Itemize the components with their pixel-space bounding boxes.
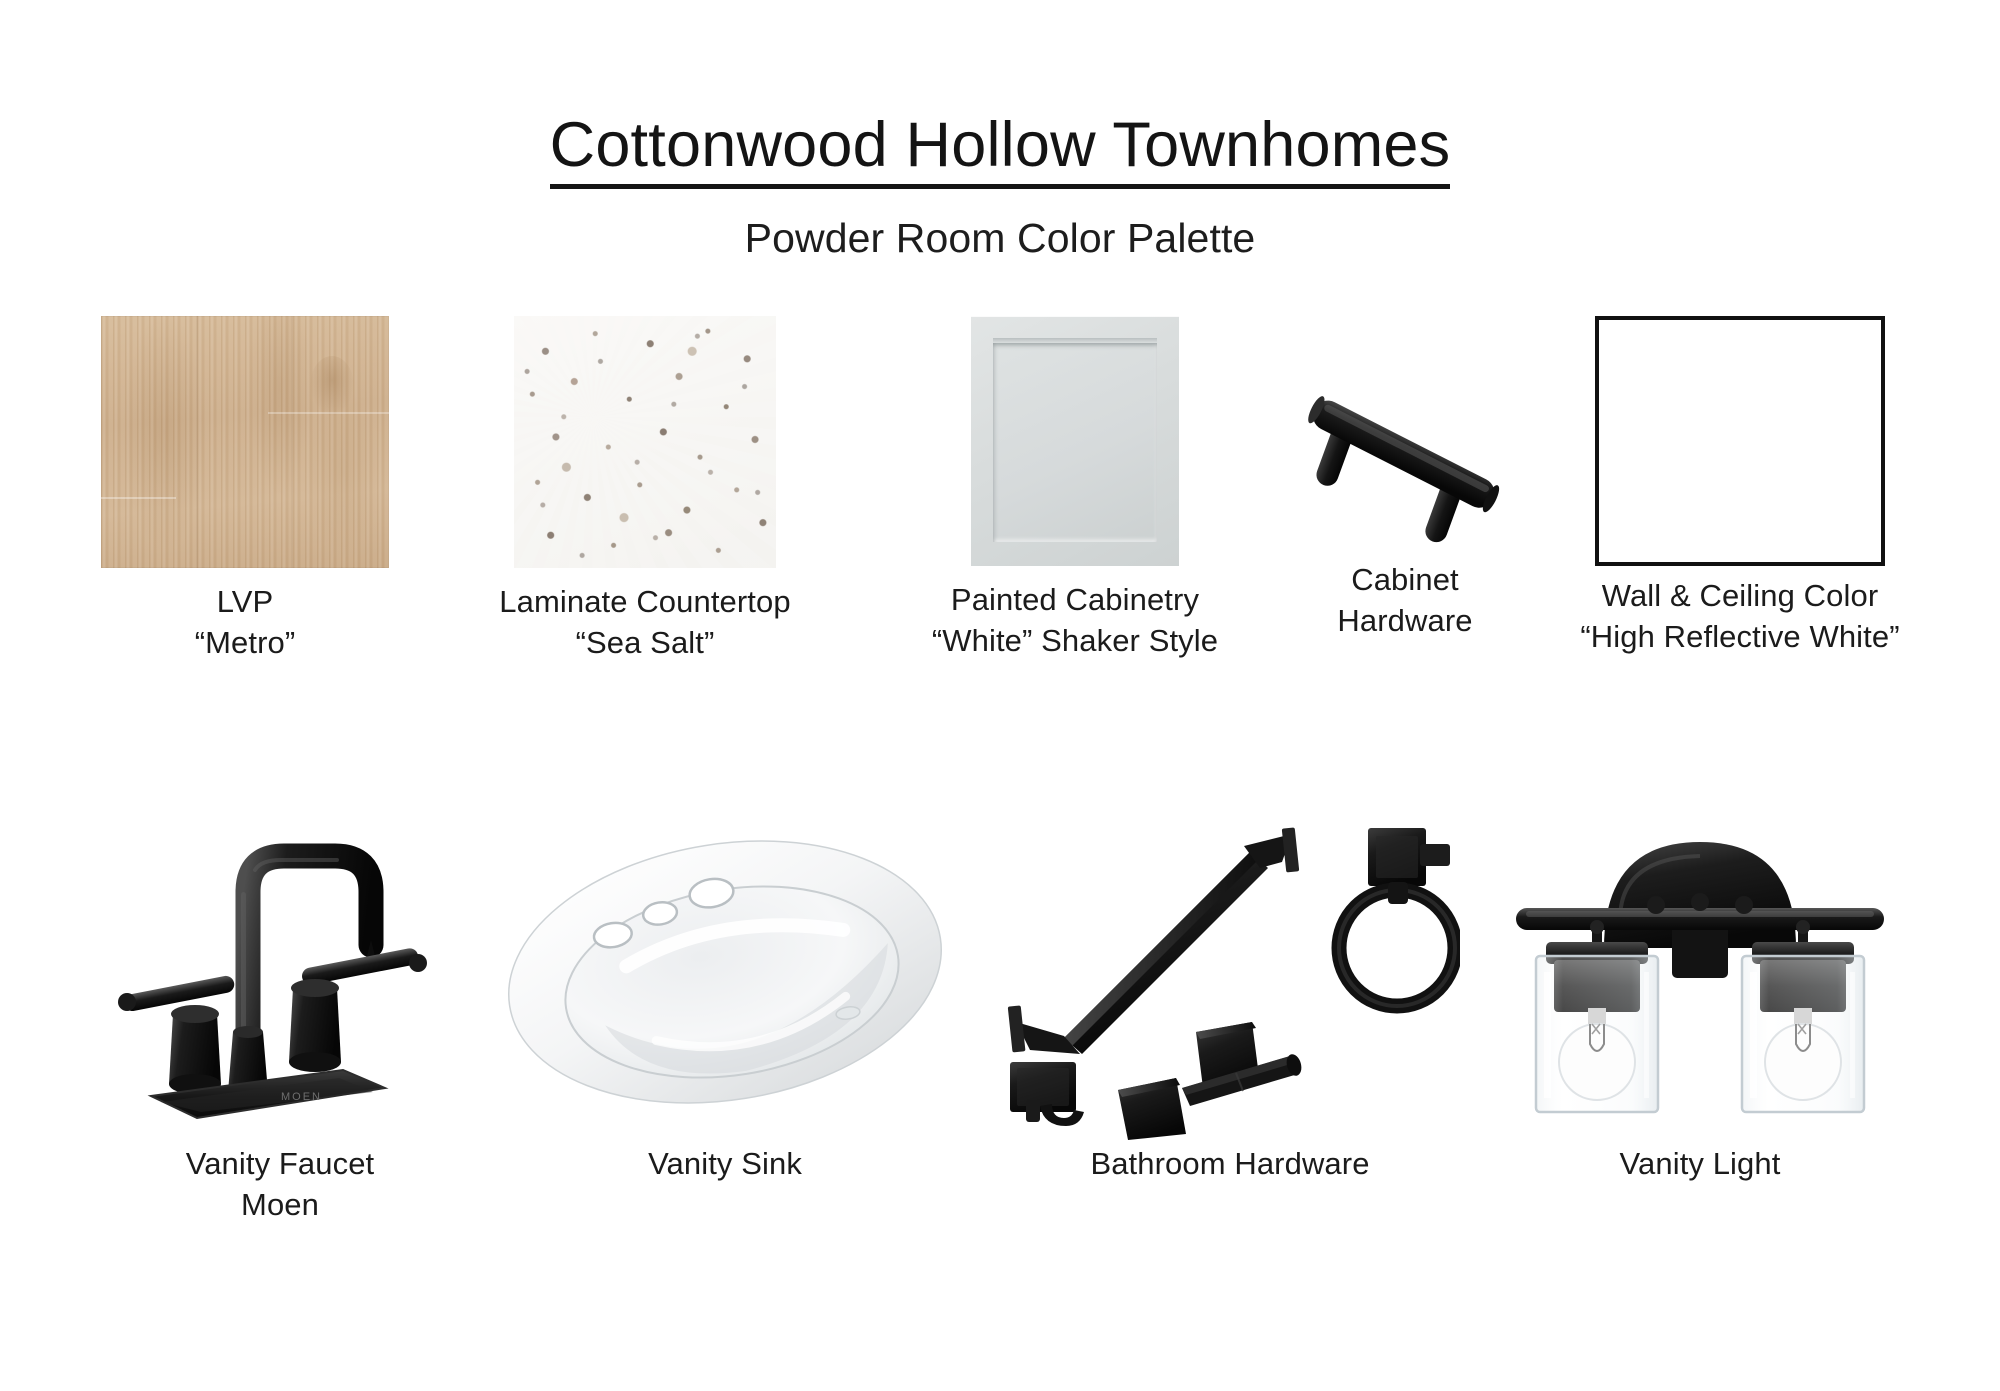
- lvp-caption-line-1: LVP: [217, 584, 274, 619]
- bath-hardware-caption-line-1: Bathroom Hardware: [1090, 1146, 1369, 1181]
- palette-item-lvp[interactable]: LVP “Metro”: [85, 316, 405, 664]
- palette-item-painted-cabinetry[interactable]: Painted Cabinetry “White” Shaker Style: [880, 316, 1270, 662]
- palette-item-vanity-sink[interactable]: Vanity Sink: [480, 800, 970, 1185]
- sink-caption: Vanity Sink: [480, 1144, 970, 1185]
- bathroom-hardware-set-icon: [1000, 800, 1460, 1140]
- vanity-light-caption-line-1: Vanity Light: [1620, 1146, 1781, 1181]
- bar-pull-image: [1297, 316, 1513, 566]
- shaker-door-swatch: [971, 316, 1179, 566]
- oval-drop-in-sink-icon: [480, 800, 970, 1140]
- towel-ring-icon: [1339, 828, 1455, 1006]
- board-header: Cottonwood Hollow Townhomes Powder Room …: [0, 0, 2000, 262]
- left-lamp: [1536, 920, 1658, 1112]
- speckled-stone-swatch: [514, 316, 776, 568]
- sink-caption-line-1: Vanity Sink: [648, 1146, 802, 1181]
- palette-item-vanity-light[interactable]: Vanity Light: [1480, 800, 1920, 1185]
- wood-plank-swatch: [101, 316, 389, 568]
- toilet-paper-holder-icon: [1118, 1022, 1304, 1140]
- bath-hardware-caption: Bathroom Hardware: [1000, 1144, 1460, 1185]
- palette-item-wall-ceiling-color[interactable]: Wall & Ceiling Color “High Reflective Wh…: [1540, 316, 1940, 658]
- cabinet-hardware-caption: Cabinet Hardware: [1270, 560, 1540, 642]
- cabinetry-caption: Painted Cabinetry “White” Shaker Style: [880, 580, 1270, 662]
- laminate-caption-line-1: Laminate Countertop: [499, 584, 790, 619]
- two-light-vanity-image: [1480, 800, 1920, 1140]
- lvp-caption-line-2: “Metro”: [85, 623, 405, 664]
- page-title: Cottonwood Hollow Townhomes: [550, 112, 1451, 189]
- cabinet-hardware-caption-line-1: Cabinet: [1351, 562, 1459, 597]
- laminate-caption: Laminate Countertop “Sea Salt”: [410, 582, 880, 664]
- wall-color-caption-line-2: “High Reflective White”: [1540, 617, 1940, 658]
- page-subtitle: Powder Room Color Palette: [0, 215, 2000, 262]
- faucet-caption-line-2: Moen: [85, 1185, 475, 1226]
- lvp-caption: LVP “Metro”: [85, 582, 405, 664]
- towel-bar-icon: [1008, 827, 1300, 1054]
- laminate-caption-line-2: “Sea Salt”: [410, 623, 880, 664]
- oval-sink-image: [480, 800, 970, 1140]
- vanity-light-caption: Vanity Light: [1480, 1144, 1920, 1185]
- faucet-caption-line-1: Vanity Faucet: [186, 1146, 375, 1181]
- palette-item-cabinet-hardware[interactable]: Cabinet Hardware: [1270, 316, 1540, 642]
- wall-color-caption-line-1: Wall & Ceiling Color: [1602, 578, 1879, 613]
- wall-color-caption: Wall & Ceiling Color “High Reflective Wh…: [1540, 576, 1940, 658]
- cabinetry-caption-line-1: Painted Cabinetry: [951, 582, 1199, 617]
- cabinet-hardware-caption-line-2: Hardware: [1270, 601, 1540, 642]
- faucet-image: MOEN: [85, 800, 475, 1140]
- cabinet-bar-pull-icon: [1297, 316, 1513, 566]
- faucet-brand-mark: MOEN: [281, 1091, 322, 1103]
- bath-hardware-set-image: [1000, 800, 1460, 1140]
- faucet-caption: Vanity Faucet Moen: [85, 1144, 475, 1226]
- cabinetry-caption-line-2: “White” Shaker Style: [880, 621, 1270, 662]
- robe-hook-icon: [1010, 1062, 1084, 1126]
- palette-item-bathroom-hardware[interactable]: Bathroom Hardware: [1000, 800, 1460, 1185]
- palette-item-laminate-countertop[interactable]: Laminate Countertop “Sea Salt”: [410, 316, 880, 664]
- palette-item-vanity-faucet[interactable]: MOEN Vanity Faucet Moen: [85, 800, 475, 1226]
- vanity-faucet-icon: MOEN: [85, 800, 475, 1140]
- two-light-vanity-fixture-icon: [1480, 800, 1920, 1140]
- white-color-swatch: [1595, 316, 1885, 566]
- right-lamp: [1742, 920, 1864, 1112]
